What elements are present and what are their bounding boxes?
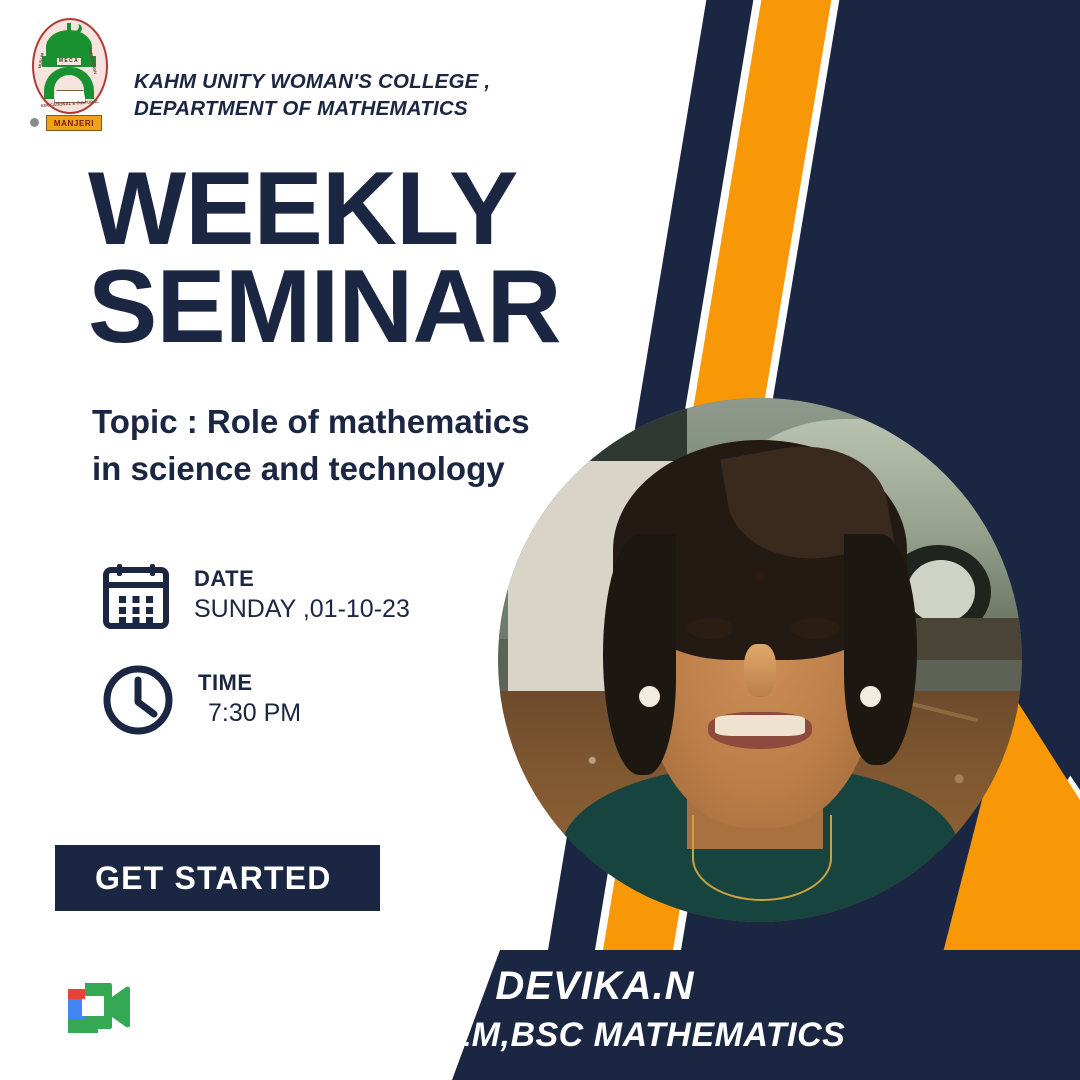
emblem-ribbon: MANJERI: [46, 115, 102, 131]
page-title: WEEKLY SEMINAR: [88, 160, 561, 356]
photo-car-hubcap: [907, 560, 975, 623]
event-details: DATE SUNDAY ,01-10-23 TIME 7:30 PM: [100, 560, 410, 768]
detail-value-time: 7:30 PM: [198, 696, 301, 730]
detail-label-time: TIME: [198, 670, 301, 696]
photo-necklace: [692, 815, 832, 901]
seminar-topic: Topic : Role of mathematics in science a…: [92, 398, 562, 492]
photo-teeth: [715, 715, 804, 736]
poster-header: MECA MUSLIM ASSOCIATION EDUCATIONAL & CU…: [24, 14, 490, 136]
calendar-icon: [100, 560, 172, 632]
google-meet-icon[interactable]: [58, 975, 132, 1039]
get-started-label: GET STARTED: [55, 860, 332, 897]
organization-name: KAHM UNITY WOMAN'S COLLEGE , DEPARTMENT …: [134, 14, 490, 122]
speaker-credential: FIRST SEM,BSC MATHEMATICS: [0, 1016, 1080, 1055]
photo-hair-right: [844, 534, 917, 765]
photo-earring-right: [860, 686, 881, 707]
photo-nose: [744, 644, 775, 696]
detail-label-date: DATE: [194, 566, 410, 592]
speaker-name: DEVIKA.N: [0, 964, 1080, 1009]
photo-eye-left: [687, 618, 734, 639]
clock-icon: [100, 662, 176, 738]
college-emblem-logo: MECA MUSLIM ASSOCIATION EDUCATIONAL & CU…: [24, 14, 112, 136]
emblem-ring-text-left: MUSLIM: [37, 52, 45, 68]
speaker-photo: [498, 398, 1022, 922]
detail-row-time: TIME 7:30 PM: [100, 662, 410, 738]
get-started-button[interactable]: GET STARTED: [55, 845, 380, 911]
detail-text-date: DATE SUNDAY ,01-10-23: [194, 566, 410, 626]
emblem-ring-text-bottom: EDUCATIONAL & CULTURAL: [41, 99, 99, 108]
organization-line-2: DEPARTMENT OF MATHEMATICS: [134, 95, 490, 122]
detail-value-date: SUNDAY ,01-10-23: [194, 592, 410, 626]
photo-eye-right: [791, 618, 838, 639]
page-title-line-1: WEEKLY: [88, 160, 561, 258]
emblem-dot-mark: [30, 118, 39, 127]
emblem-ribbon-text: MANJERI: [54, 119, 94, 128]
seminar-poster: MECA MUSLIM ASSOCIATION EDUCATIONAL & CU…: [0, 0, 1080, 1080]
organization-line-1: KAHM UNITY WOMAN'S COLLEGE ,: [134, 68, 490, 95]
speaker-name-banner: DEVIKA.N FIRST SEM,BSC MATHEMATICS: [0, 950, 1080, 1080]
emblem-ring-text: MUSLIM ASSOCIATION EDUCATIONAL & CULTURA…: [32, 18, 104, 110]
page-title-line-2: SEMINAR: [88, 258, 561, 356]
detail-row-date: DATE SUNDAY ,01-10-23: [100, 560, 410, 632]
photo-hair-left: [603, 534, 676, 775]
detail-text-time: TIME 7:30 PM: [198, 670, 301, 730]
emblem-ring-text-right: ASSOCIATION: [87, 47, 98, 75]
